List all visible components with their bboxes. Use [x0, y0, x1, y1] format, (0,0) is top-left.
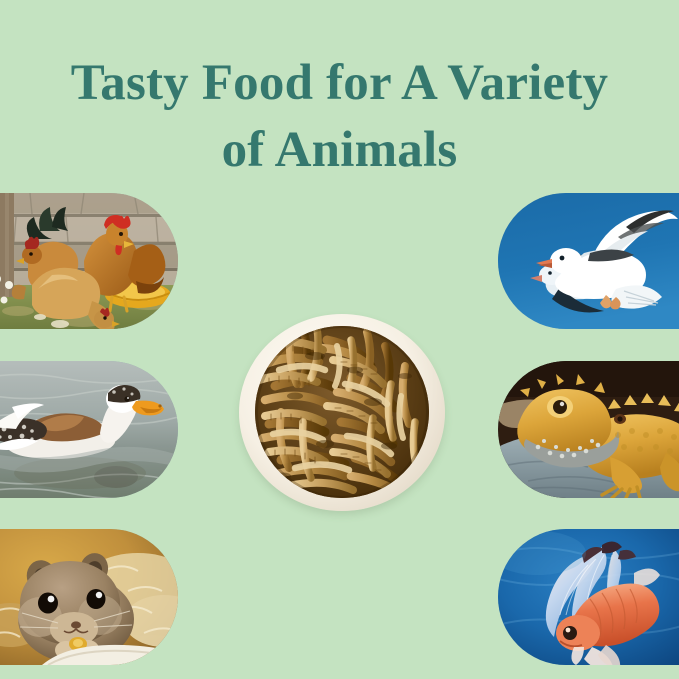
photo-tile-seagull: [498, 193, 679, 329]
hamster-illustration: [0, 529, 178, 665]
photo-tile-bearded-dragon: [498, 361, 679, 498]
title-line-1: Tasty Food for A Variety: [0, 50, 679, 117]
center-product-bowl: [239, 312, 445, 513]
photo-tile-betta-fish: [498, 529, 679, 665]
seagull-illustration: [498, 193, 679, 329]
photo-tile-hamster: [0, 529, 178, 665]
mealworm-pile: [255, 326, 429, 498]
page-title: Tasty Food for A Variety of Animals: [0, 50, 679, 184]
duck-illustration: [0, 361, 178, 498]
title-line-2: of Animals: [0, 117, 679, 184]
poster-canvas: Tasty Food for A Variety of Animals: [0, 0, 679, 679]
chickens-illustration: [0, 193, 178, 329]
betta-fish-illustration: [498, 529, 679, 665]
bearded-dragon-illustration: [498, 361, 679, 498]
photo-tile-duck: [0, 361, 178, 498]
mealworms-illustration: [255, 326, 429, 498]
photo-tile-chickens: [0, 193, 178, 329]
